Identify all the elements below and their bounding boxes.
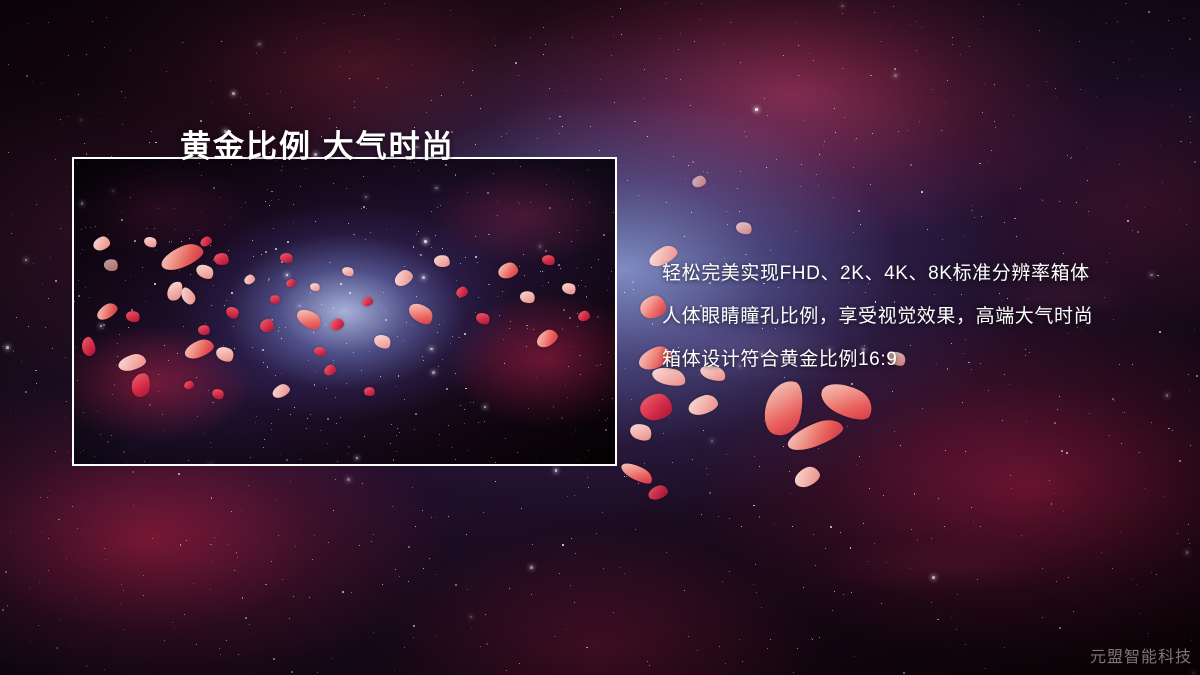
feature-description: 轻松完美实现FHD、2K、4K、8K标准分辨率箱体 人体眼睛瞳孔比例，享受视觉效… bbox=[662, 252, 1182, 381]
display-panel-frame[interactable] bbox=[72, 157, 617, 466]
feature-line-2: 人体眼睛瞳孔比例，享受视觉效果，高端大气时尚 bbox=[662, 295, 1182, 338]
panel-vignette bbox=[74, 159, 615, 464]
company-watermark: 元盟智能科技 bbox=[1090, 643, 1192, 667]
feature-line-1: 轻松完美实现FHD、2K、4K、8K标准分辨率箱体 bbox=[662, 252, 1182, 295]
feature-line-3: 箱体设计符合黄金比例16:9 bbox=[662, 338, 1182, 381]
presentation-slide: 黄金比例 大气时尚 轻松完美实现FHD、2K、4K、8K标准分辨率箱体 人体眼睛… bbox=[0, 0, 1200, 675]
page-title: 黄金比例 大气时尚 bbox=[180, 121, 455, 166]
